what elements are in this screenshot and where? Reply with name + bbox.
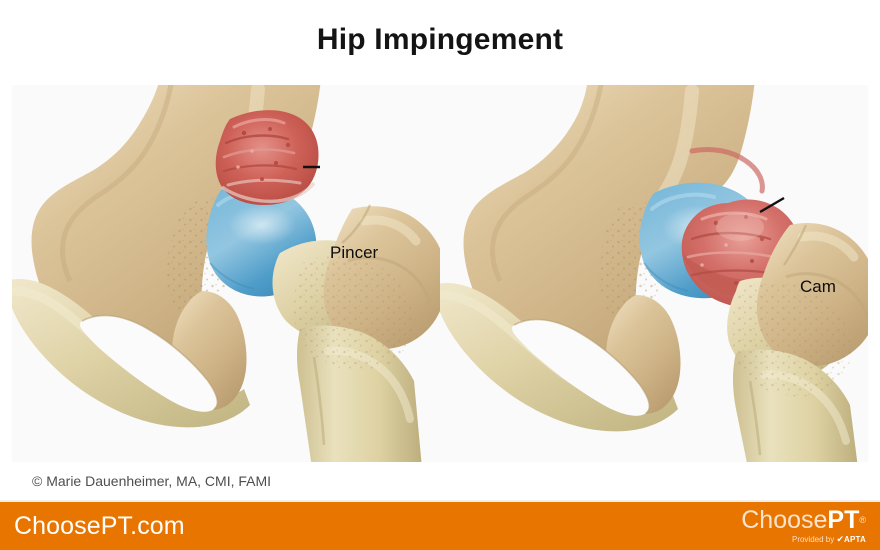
logo-word-choose: Choose <box>741 506 827 534</box>
apta-check-icon: ✔ <box>836 534 844 544</box>
choosept-logo-wordmark: ChoosePT® <box>706 507 866 533</box>
figure-cam-impingement <box>440 85 868 462</box>
pincer-hip-illustration <box>12 85 440 462</box>
figure-pincer-impingement <box>12 85 440 462</box>
footer-bar: ChoosePT.com ChoosePT® Provided by ✔APTA <box>0 500 880 550</box>
illustration-panel: Pincer Cam <box>12 85 868 462</box>
footer-site-link[interactable]: ChoosePT.com <box>14 511 185 541</box>
illustration-credit: © Marie Dauenheimer, MA, CMI, FAMI <box>32 471 271 491</box>
cam-highlight <box>716 213 764 241</box>
cam-hip-illustration <box>440 85 868 462</box>
choosept-logo[interactable]: ChoosePT® Provided by ✔APTA <box>706 507 866 545</box>
cartilage-highlight <box>228 205 296 245</box>
page-title: Hip Impingement <box>0 20 880 60</box>
callout-label-cam: Cam <box>800 277 836 297</box>
callout-label-pincer: Pincer <box>330 243 378 263</box>
logo-tagline-prefix: Provided by <box>792 535 834 544</box>
logo-word-pt: PT <box>827 506 859 534</box>
logo-tagline: Provided by ✔APTA <box>706 534 866 545</box>
apta-wordmark: APTA <box>844 535 866 544</box>
trademark-icon: ® <box>859 515 866 525</box>
